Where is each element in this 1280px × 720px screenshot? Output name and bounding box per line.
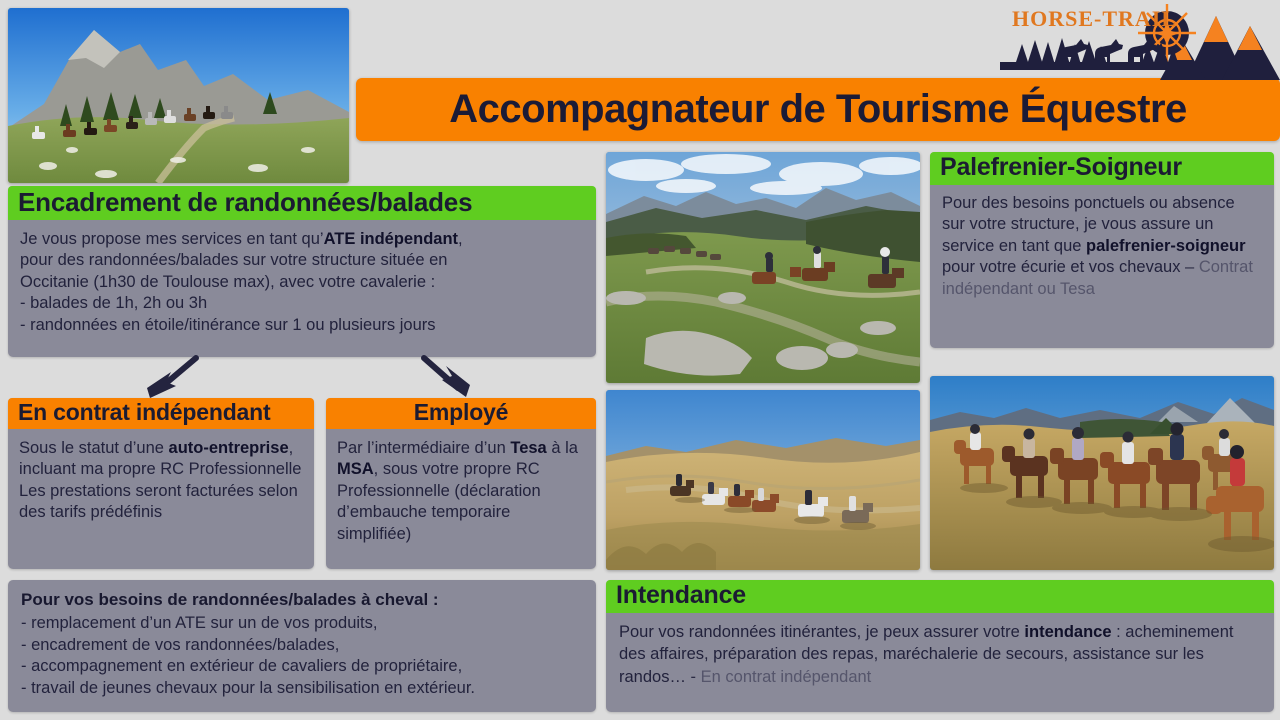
text-line: Je vous propose mes services en tant qu’… (20, 229, 584, 250)
text-mid: à la (547, 439, 578, 457)
panel-employe-header: Employé (326, 398, 596, 429)
panel-encadrement-header: Encadrement de randonnées/balades (8, 186, 596, 220)
panel-intendance-body: Pour vos randonnées itinérantes, je peux… (606, 613, 1274, 688)
text-dim: En contrat indépendant (696, 668, 871, 686)
line-bold: ATE indépendant (324, 230, 458, 248)
text-pre: Par l’intermédiaire d’un (337, 439, 510, 457)
panel-employe-body: Par l’intermédiaire d’un Tesa à la MSA, … (326, 429, 596, 545)
panel-contrat-independant-header: En contrat indépendant (8, 398, 314, 429)
text-line: - balades de 1h, 2h ou 3h (20, 293, 584, 314)
list-item: - encadrement de vos randonnées/balades, (21, 635, 583, 657)
text-line: Occitanie (1h30 de Toulouse max), avec v… (20, 272, 584, 293)
text-pre: Sous le statut d’une (19, 439, 169, 457)
page-title: Accompagnateur de Tourisme Équestre (356, 78, 1280, 141)
text-bold: palefrenier-soigneur (1086, 237, 1246, 255)
panel-palefrenier: Palefrenier-Soigneur Pour des besoins po… (930, 152, 1274, 348)
logo-wordmark: HORSE-TRAIL (1012, 6, 1177, 32)
arrow-to-employe-head (442, 366, 470, 397)
photo-mountain-ridge-riders (8, 8, 349, 183)
panel-contrat-independant-body: Sous le statut d’une auto-entreprise, in… (8, 429, 314, 524)
list-item: - remplacement d’un ATE sur un de vos pr… (21, 613, 583, 635)
panel-besoins-body: Pour vos besoins de randonnées/balades à… (8, 580, 596, 700)
text-mid: pour votre écurie et vos chevaux (942, 258, 1185, 276)
text-bold-msa: MSA (337, 460, 374, 478)
panel-encadrement: Encadrement de randonnées/balades Je vou… (8, 186, 596, 357)
page-title-text: Accompagnateur de Tourisme Équestre (449, 87, 1187, 132)
photo-green-valley-trail (606, 152, 920, 383)
brand-logo[interactable]: HORSE-TRAIL (1000, 0, 1280, 80)
panel-intendance: Intendance Pour vos randonnées itinérant… (606, 580, 1274, 712)
horse-silhouette-icon (1060, 39, 1156, 66)
text-bold: auto-entreprise (169, 439, 289, 457)
panel-contrat-independant: En contrat indépendant Sous le statut d’… (8, 398, 314, 569)
panel-palefrenier-header: Palefrenier-Soigneur (930, 152, 1274, 185)
text-line: Sous le statut d’une auto-entreprise, in… (19, 438, 303, 481)
slide-canvas: Accompagnateur de Tourisme Équestre (0, 0, 1280, 720)
text-dash: – (1185, 258, 1194, 276)
text-bold-tesa: Tesa (510, 439, 546, 457)
panel-intendance-header: Intendance (606, 580, 1274, 613)
panel-employe: Employé Par l’intermédiaire d’un Tesa à … (326, 398, 596, 569)
line-post: , (458, 230, 463, 248)
text-pre: Pour vos randonnées itinérantes, je peux… (619, 623, 1024, 641)
text-line: Les prestations seront facturées selon d… (19, 481, 303, 524)
panel-palefrenier-body: Pour des besoins ponctuels ou absence su… (930, 185, 1274, 300)
line-pre: Je vous propose mes services en tant qu’ (20, 230, 324, 248)
photo-golden-plateau-trail (606, 390, 920, 570)
panel-besoins: Pour vos besoins de randonnées/balades à… (8, 580, 596, 712)
panel-encadrement-body: Je vous propose mes services en tant qu’… (8, 220, 596, 336)
text-line: pour des randonnées/balades sur votre st… (20, 250, 584, 271)
text-bold: intendance (1024, 623, 1111, 641)
text-line: - randonnées en étoile/itinérance sur 1 … (20, 315, 584, 336)
list-item: - accompagnement en extérieur de cavalie… (21, 656, 583, 678)
list-item: - travail de jeunes chevaux pour la sens… (21, 678, 583, 700)
photo-riders-group-front (930, 376, 1274, 570)
panel-besoins-header: Pour vos besoins de randonnées/balades à… (21, 589, 583, 612)
